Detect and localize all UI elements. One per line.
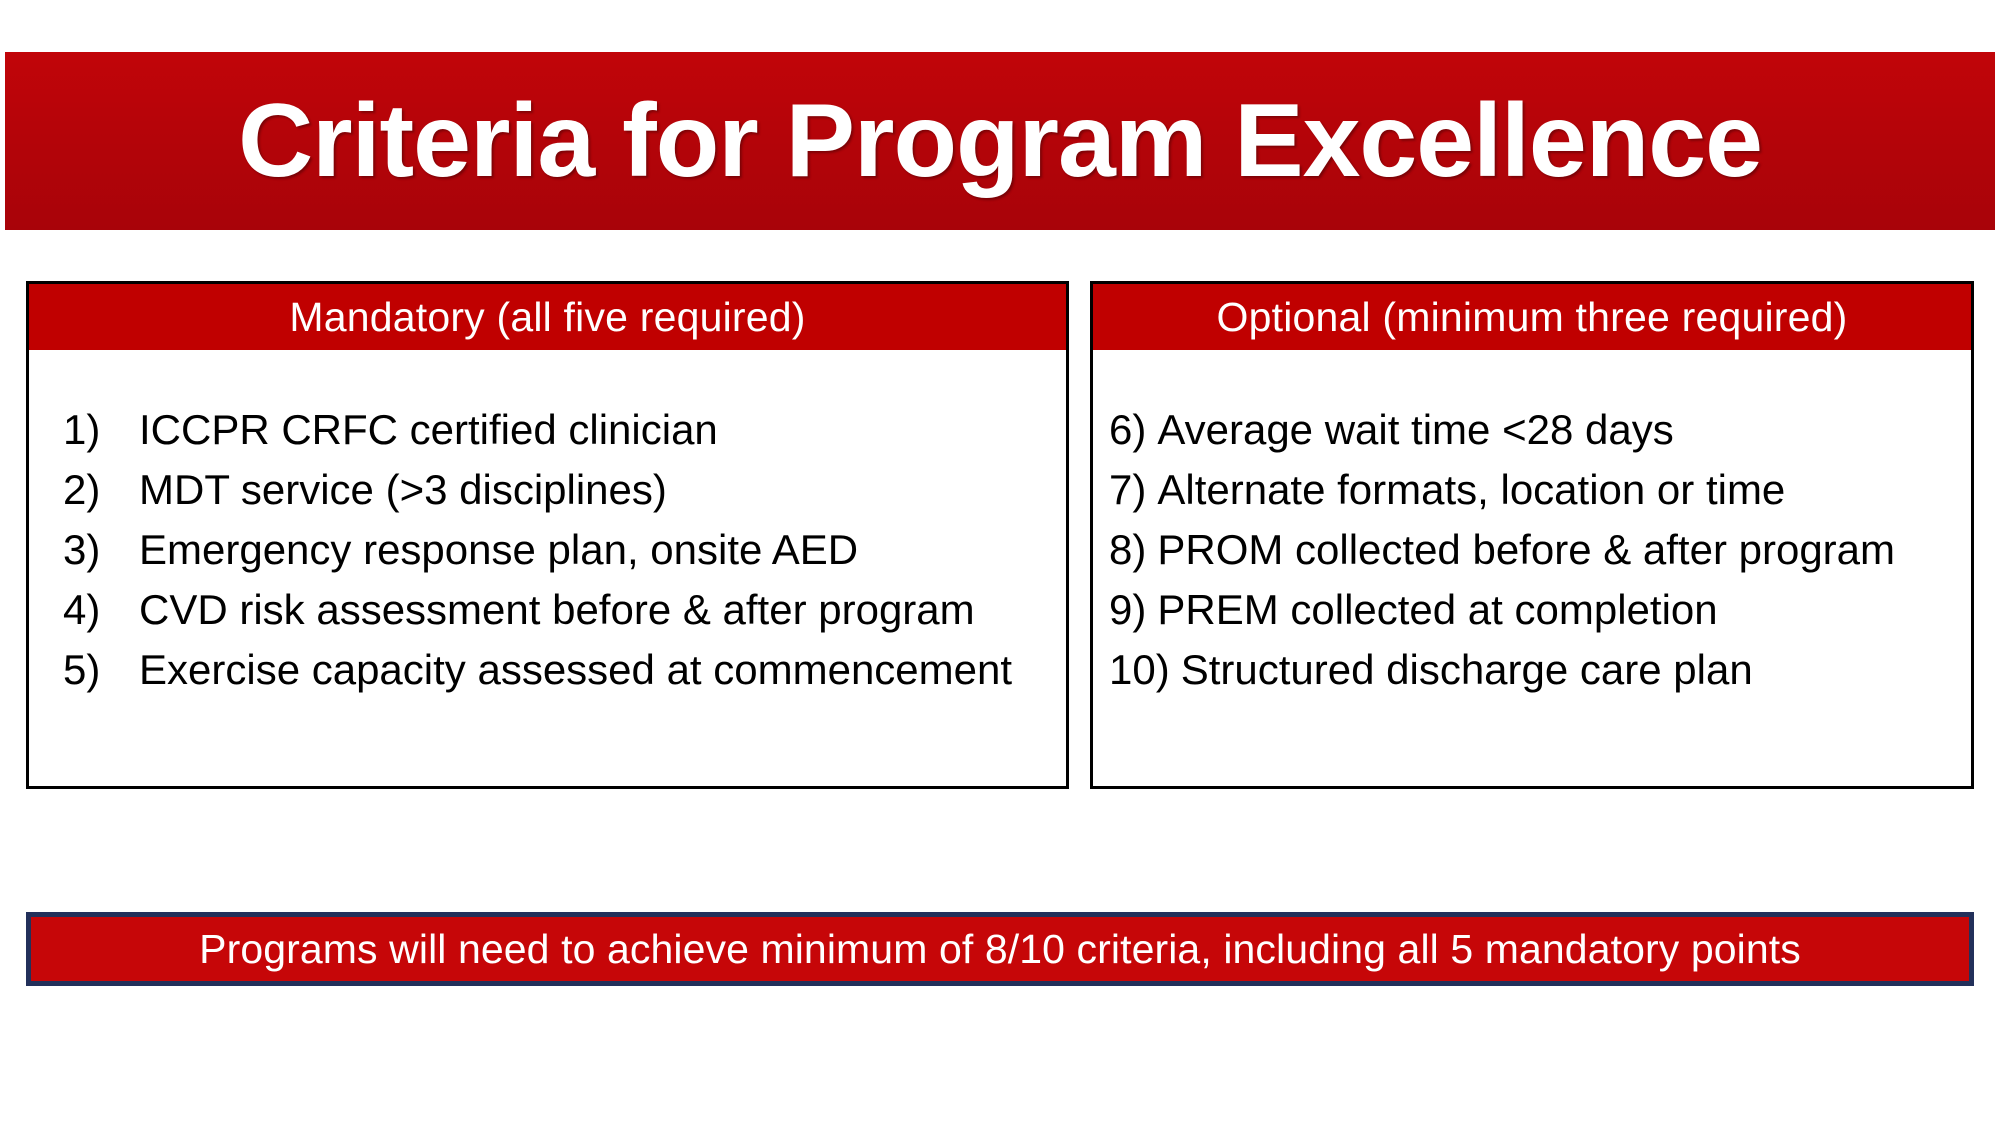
list-item-number: 8) (1109, 520, 1157, 580)
list-item-label: PREM collected at completion (1157, 580, 1717, 640)
mandatory-header: Mandatory (all five required) (29, 284, 1066, 350)
list-item: 9) PREM collected at completion (1109, 580, 1971, 640)
optional-item-list: 6) Average wait time <28 days 7) Alterna… (1093, 400, 1971, 700)
list-item: 2) MDT service (>3 disciplines) (63, 460, 1066, 520)
list-item-number: 4) (63, 580, 139, 640)
optional-body: 6) Average wait time <28 days 7) Alterna… (1093, 350, 1971, 786)
mandatory-criteria-box: Mandatory (all five required) 1) ICCPR C… (26, 281, 1069, 789)
list-item-number: 1) (63, 400, 139, 460)
list-item-label: Exercise capacity assessed at commenceme… (139, 640, 1012, 700)
list-item: 1) ICCPR CRFC certified clinician (63, 400, 1066, 460)
list-item-label: Emergency response plan, onsite AED (139, 520, 858, 580)
list-item: 3) Emergency response plan, onsite AED (63, 520, 1066, 580)
list-item-number: 10) (1109, 640, 1181, 700)
list-item: 6) Average wait time <28 days (1109, 400, 1971, 460)
list-item-number: 7) (1109, 460, 1157, 520)
list-item: 10) Structured discharge care plan (1109, 640, 1971, 700)
list-item-label: PROM collected before & after program (1157, 520, 1895, 580)
list-item-label: MDT service (>3 disciplines) (139, 460, 667, 520)
optional-criteria-box: Optional (minimum three required) 6) Ave… (1090, 281, 1974, 789)
list-item: 7) Alternate formats, location or time (1109, 460, 1971, 520)
list-item-number: 3) (63, 520, 139, 580)
footer-banner: Programs will need to achieve minimum of… (26, 912, 1974, 986)
list-item-number: 6) (1109, 400, 1157, 460)
list-item: 8) PROM collected before & after program (1109, 520, 1971, 580)
mandatory-item-list: 1) ICCPR CRFC certified clinician 2) MDT… (29, 400, 1066, 700)
list-item-number: 2) (63, 460, 139, 520)
list-item-label: Structured discharge care plan (1181, 640, 1753, 700)
mandatory-body: 1) ICCPR CRFC certified clinician 2) MDT… (29, 350, 1066, 786)
list-item-label: CVD risk assessment before & after progr… (139, 580, 975, 640)
page-title: Criteria for Program Excellence (238, 89, 1762, 193)
list-item-label: Average wait time <28 days (1157, 400, 1673, 460)
list-item-number: 5) (63, 640, 139, 700)
list-item: 5) Exercise capacity assessed at commenc… (63, 640, 1066, 700)
optional-header: Optional (minimum three required) (1093, 284, 1971, 350)
list-item-number: 9) (1109, 580, 1157, 640)
list-item-label: ICCPR CRFC certified clinician (139, 400, 718, 460)
title-banner: Criteria for Program Excellence (5, 52, 1995, 230)
list-item-label: Alternate formats, location or time (1157, 460, 1785, 520)
list-item: 4) CVD risk assessment before & after pr… (63, 580, 1066, 640)
footer-note: Programs will need to achieve minimum of… (199, 926, 1801, 973)
